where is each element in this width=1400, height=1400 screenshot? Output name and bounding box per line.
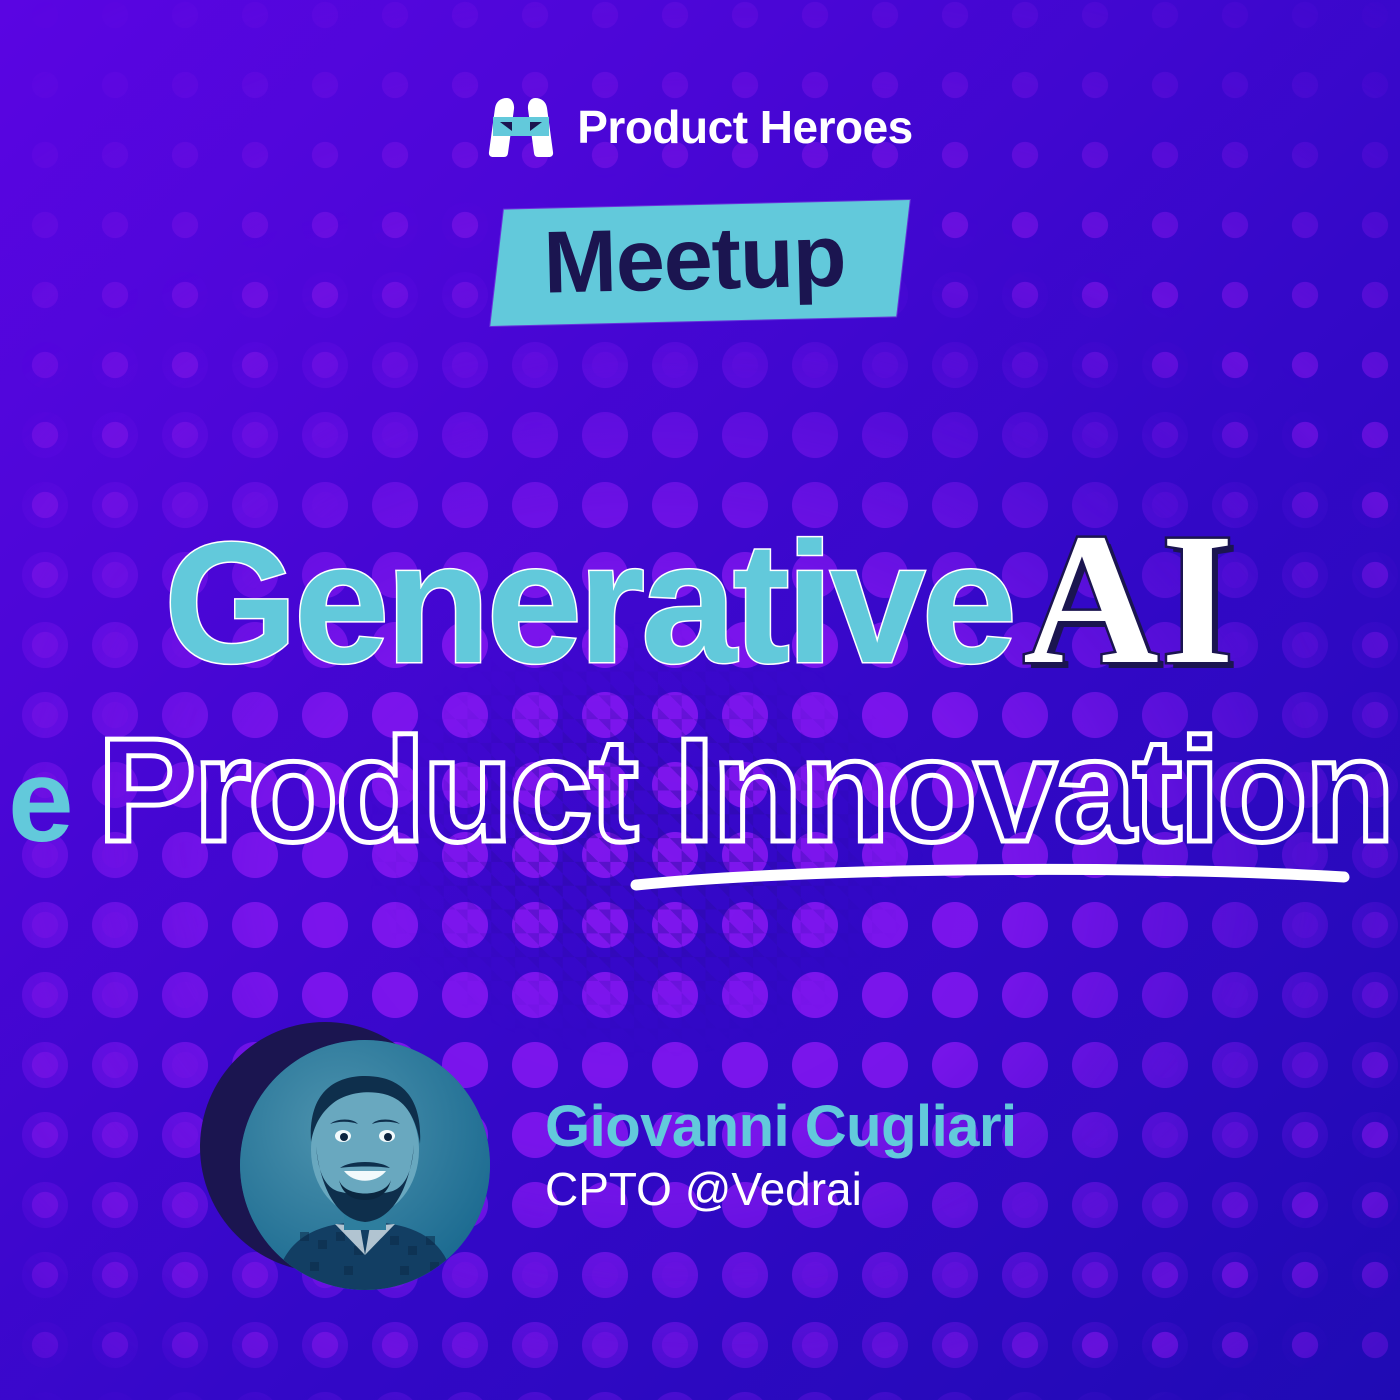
- title-word-e: e: [8, 742, 72, 860]
- brand-name: Product Heroes: [577, 100, 913, 154]
- poster-canvas: Product Heroes Meetup Generative AI e Pr…: [0, 0, 1400, 1400]
- product-heroes-a-mask-logo-icon: [487, 96, 555, 158]
- brand-header: Product Heroes: [0, 96, 1400, 158]
- title-line-2: e Product Innovation: [0, 717, 1400, 865]
- speaker-portrait-icon: [240, 1040, 490, 1290]
- title-word-product-innovation: Product Innovation: [98, 717, 1392, 865]
- speaker-info: Giovanni Cugliari CPTO @Vedrai: [545, 1096, 1017, 1216]
- speaker-role: CPTO @Vedrai: [545, 1163, 1017, 1216]
- meetup-banner-wrap: Meetup: [0, 205, 1400, 321]
- title-word-generative: Generative: [164, 517, 1013, 689]
- meetup-banner: Meetup: [490, 200, 910, 326]
- meetup-label: Meetup: [543, 214, 847, 306]
- event-title: Generative AI e Product Innovation: [0, 505, 1400, 865]
- title-word-ai: AI: [1023, 505, 1236, 693]
- speaker-name: Giovanni Cugliari: [545, 1096, 1017, 1159]
- hand-drawn-underline-icon: [630, 855, 1350, 897]
- title-line-1: Generative AI: [0, 505, 1400, 693]
